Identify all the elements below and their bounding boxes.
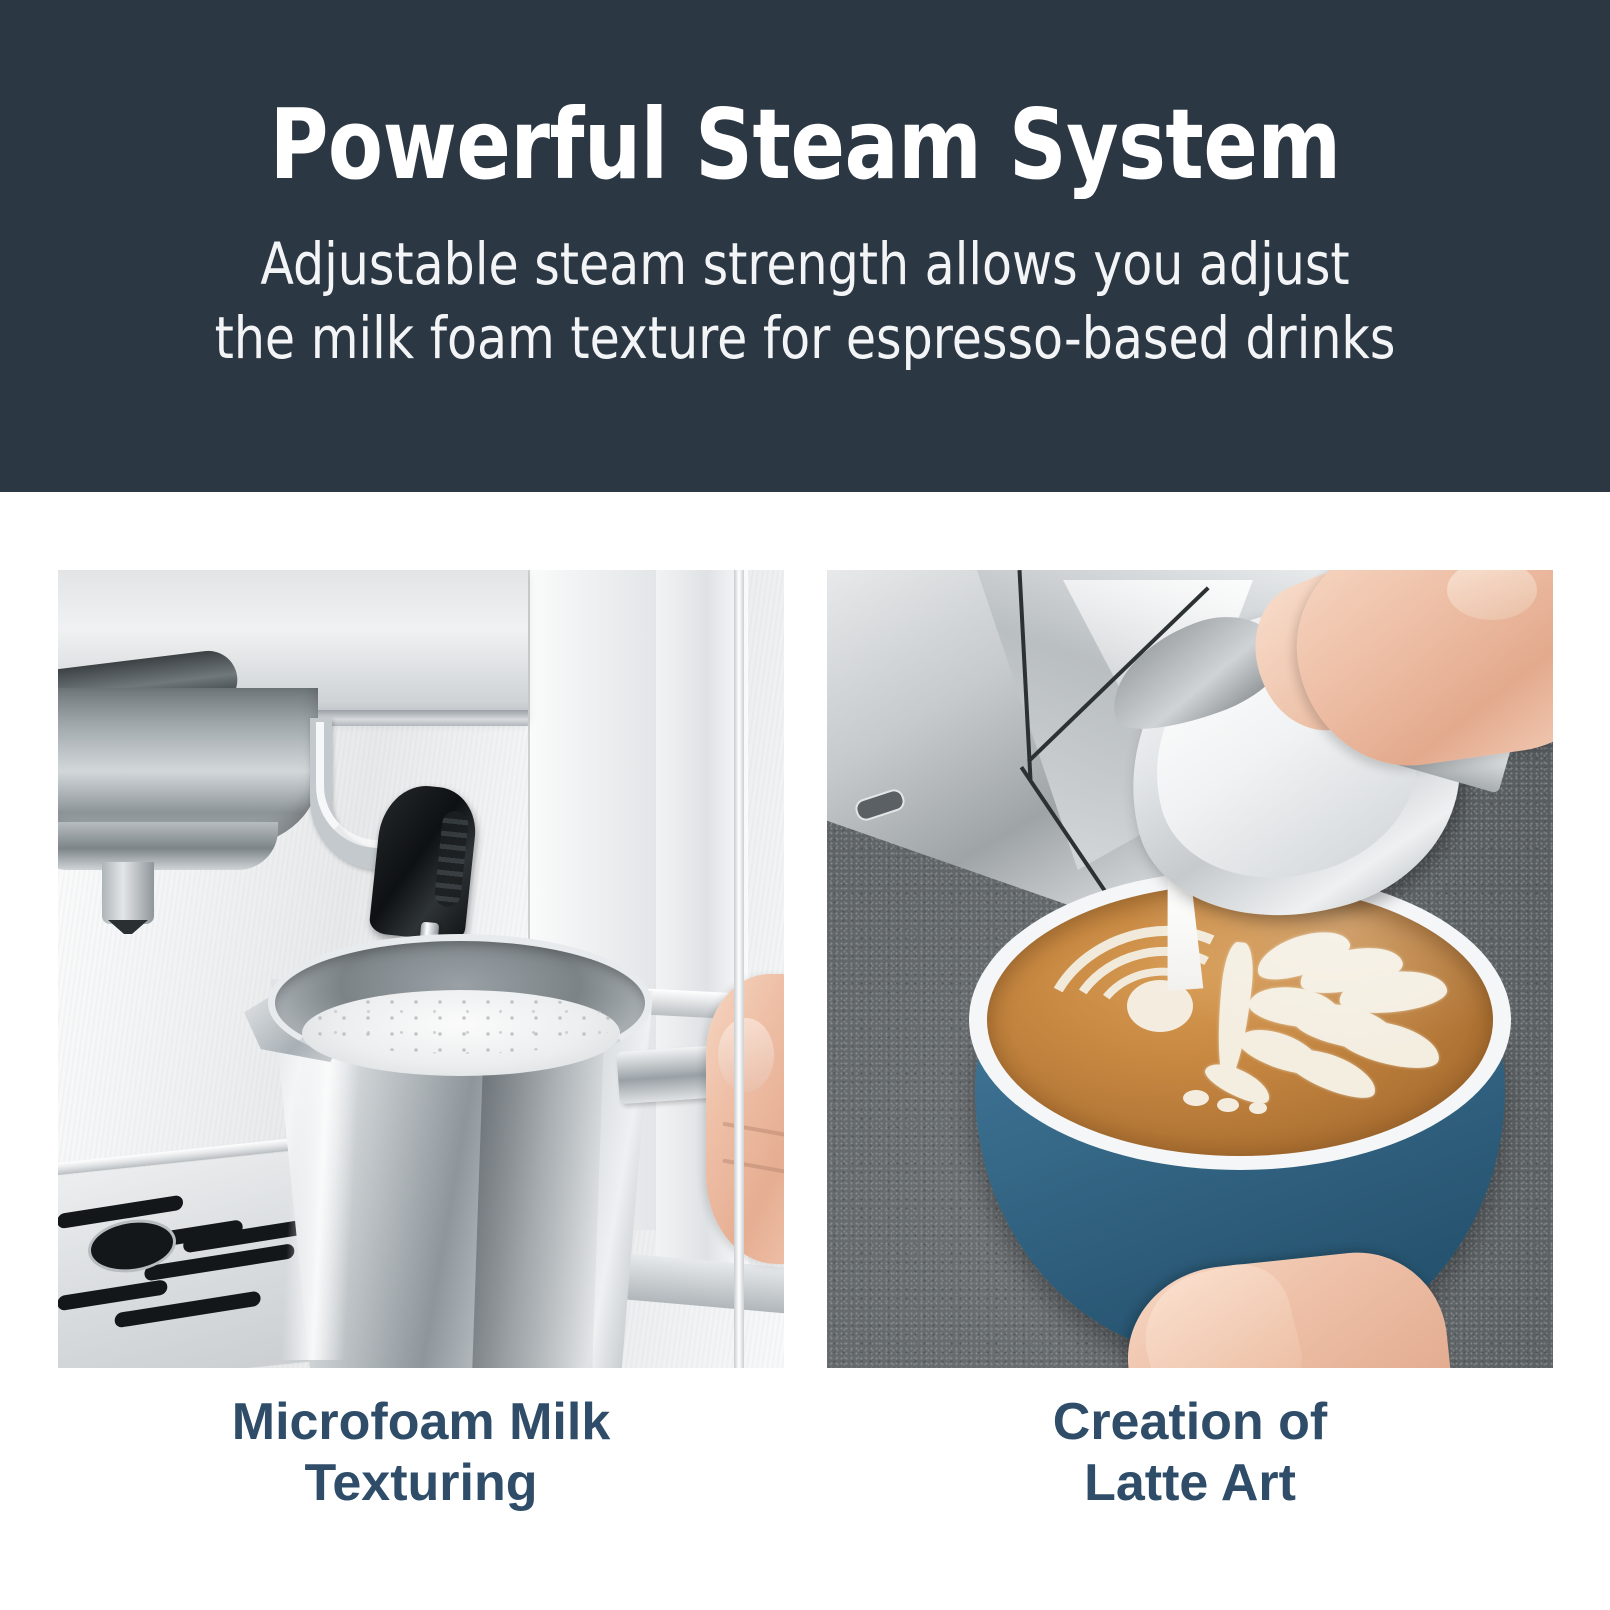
milk-pitcher-shadow — [472, 1040, 604, 1368]
portafilter-basket-ring — [58, 822, 278, 870]
photo-illustration-latte-art-pour — [827, 570, 1553, 1368]
photo-illustration-espresso-steam-wand — [58, 570, 784, 1368]
microfoam-bubbles — [308, 994, 614, 1054]
caption-line-1: Microfoam Milk — [58, 1392, 784, 1453]
photo-microfoam-milk-texturing — [58, 570, 784, 1368]
thumb-nail — [718, 1018, 774, 1092]
photo-creation-of-latte-art — [827, 570, 1553, 1368]
page-title: Powerful Steam System — [270, 96, 1341, 193]
product-feature-page: Powerful Steam System Adjustable steam s… — [0, 0, 1610, 1610]
machine-panel-seam — [734, 570, 744, 1368]
header-band: Powerful Steam System Adjustable steam s… — [0, 0, 1610, 492]
page-subtitle: Adjustable steam strength allows you adj… — [128, 227, 1482, 375]
caption-line-2: Texturing — [58, 1453, 784, 1514]
caption-microfoam-milk-texturing: Microfoam Milk Texturing — [58, 1392, 784, 1515]
portafilter-spout — [102, 862, 154, 924]
caption-line-1: Creation of — [827, 1392, 1553, 1453]
caption-line-2: Latte Art — [827, 1453, 1553, 1514]
coffee-inner-shadow — [987, 884, 1493, 1156]
feature-panels: Microfoam Milk Texturing Creation of Lat… — [0, 492, 1610, 1610]
caption-creation-of-latte-art: Creation of Latte Art — [827, 1392, 1553, 1515]
subtitle-line-1: Adjustable steam strength allows you adj… — [128, 227, 1482, 301]
subtitle-line-2: the milk foam texture for espresso-based… — [128, 301, 1482, 375]
